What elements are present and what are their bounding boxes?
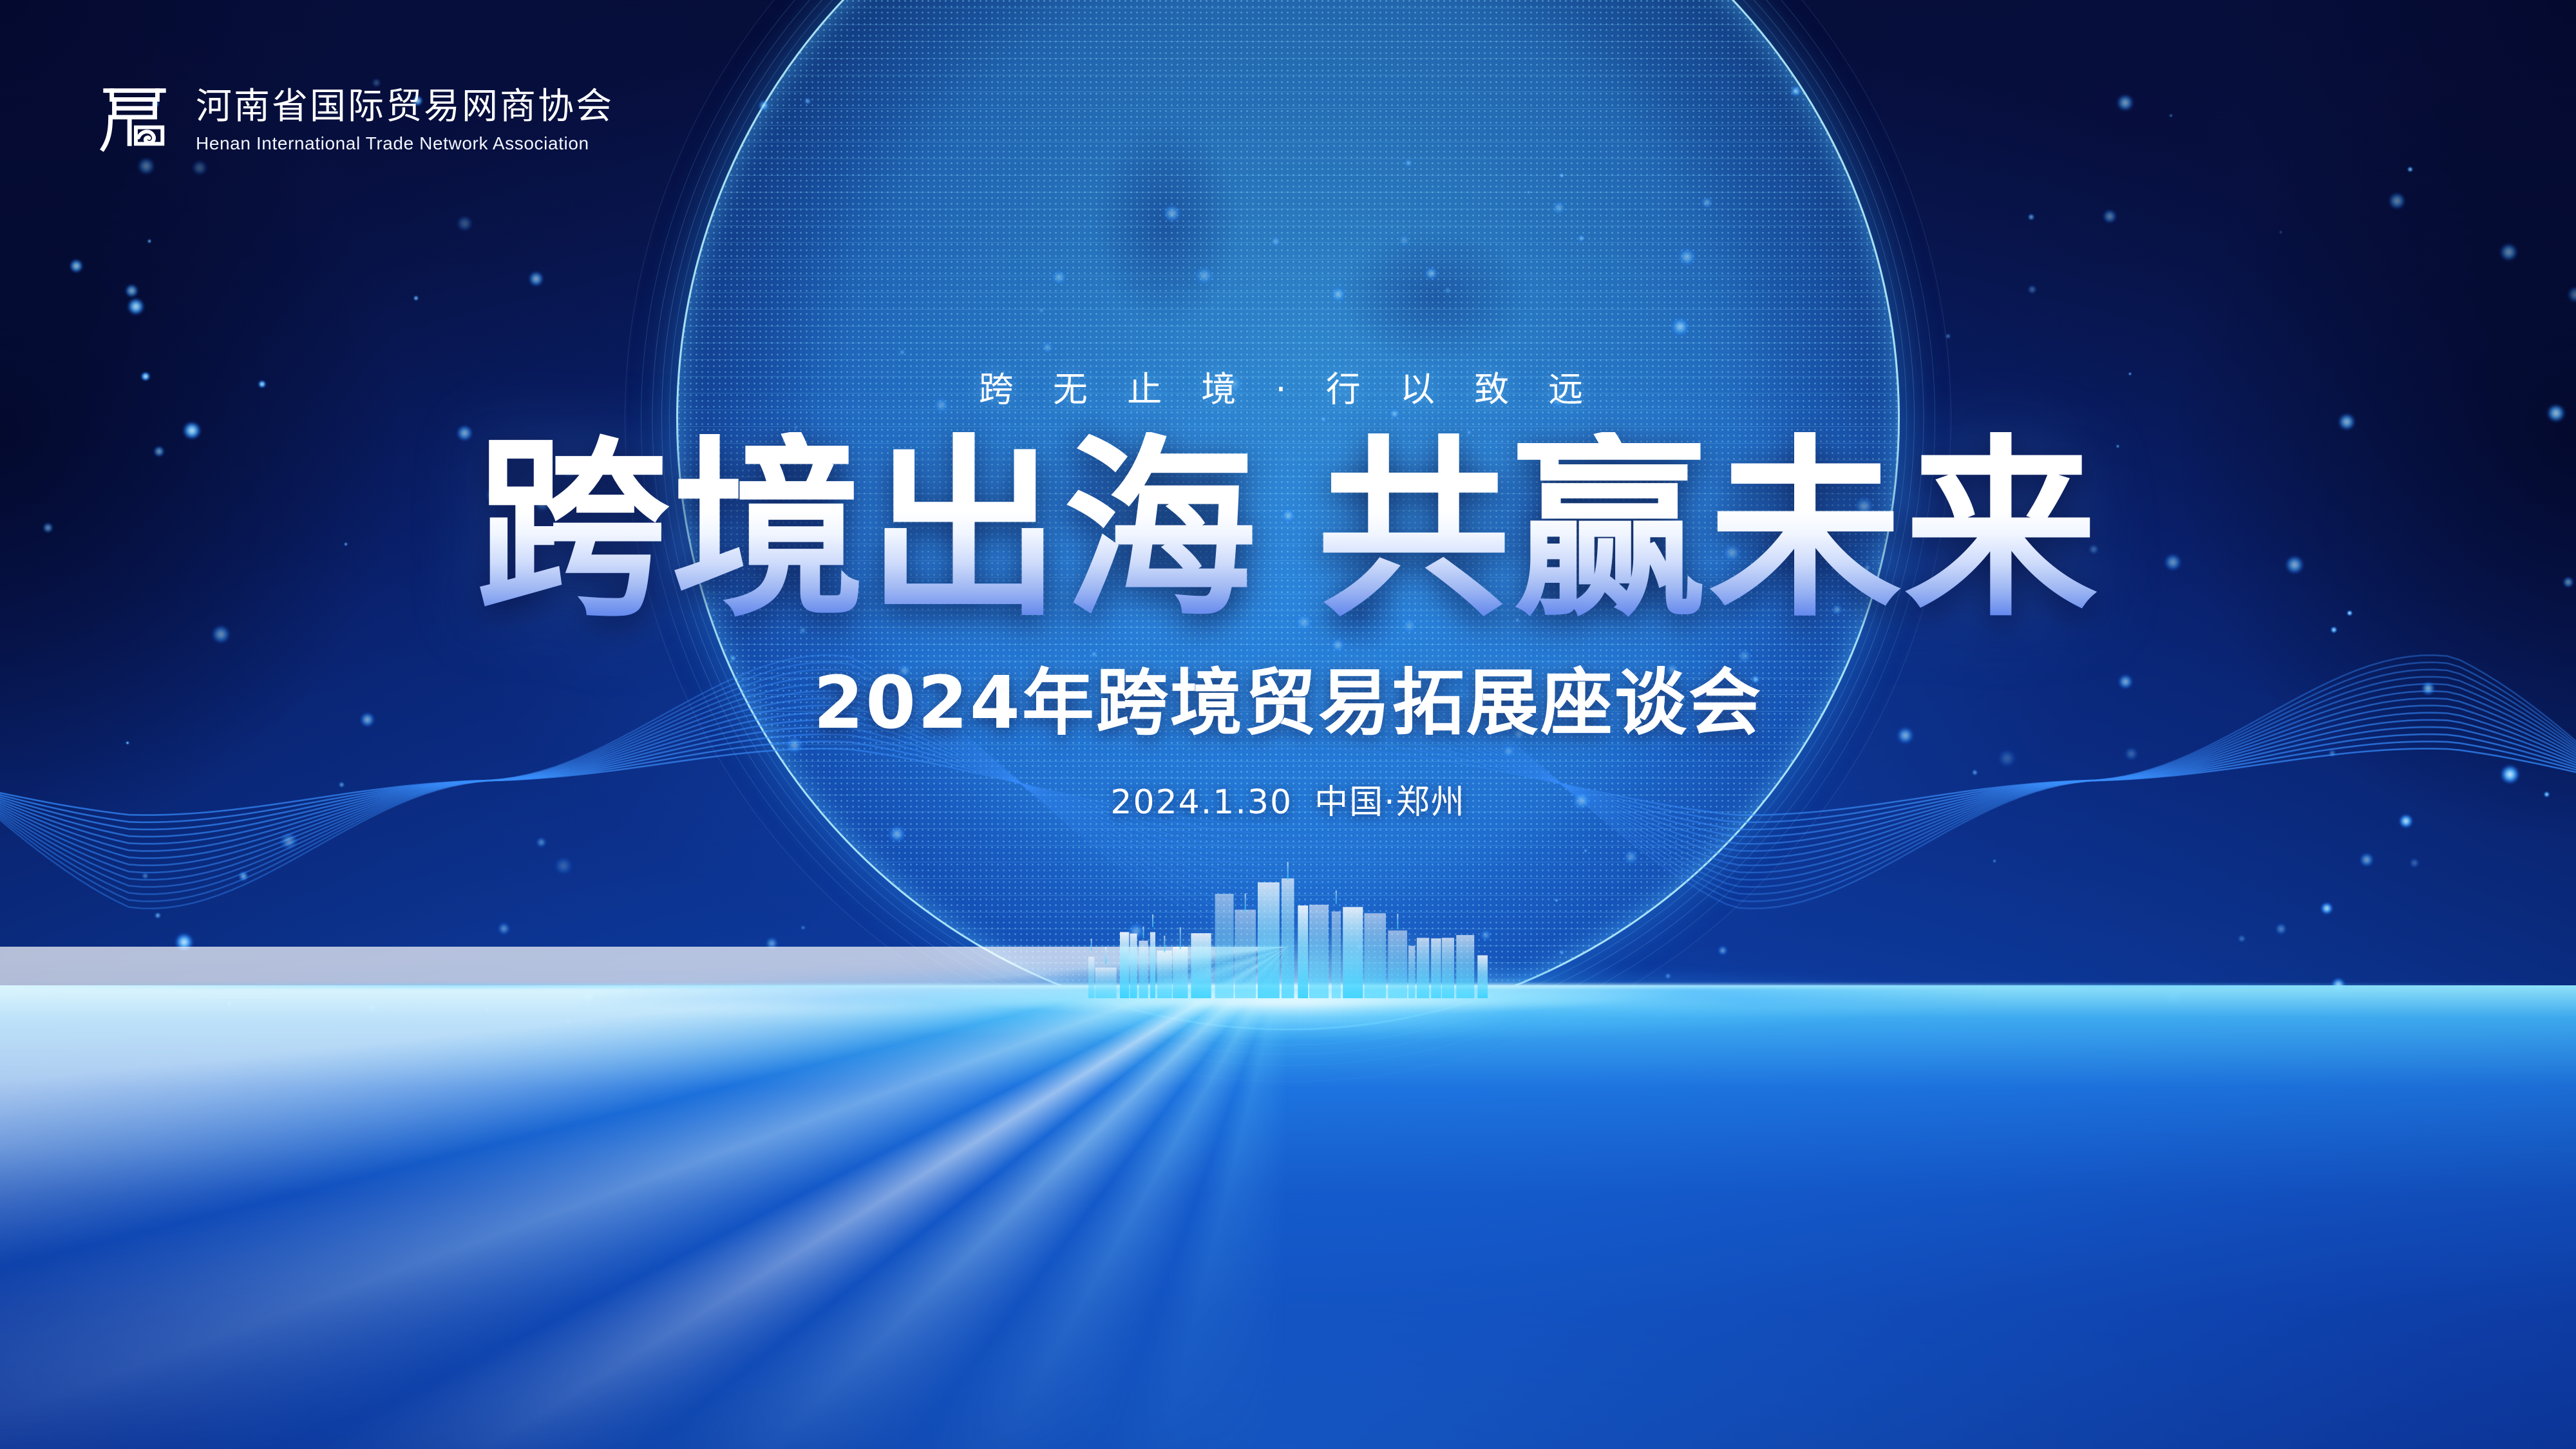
city-building <box>1442 938 1454 998</box>
city-antenna <box>1091 939 1092 951</box>
city-antenna <box>1180 927 1181 949</box>
hero-headline: 跨境出海共赢未来 <box>0 432 2576 629</box>
city-building <box>1215 894 1234 998</box>
city-antenna <box>1287 862 1289 880</box>
city-building <box>1258 882 1280 998</box>
city-building <box>1332 911 1341 998</box>
event-date: 2024.1.30 <box>1110 783 1293 822</box>
city-building <box>1343 907 1363 998</box>
event-poster: 河南省国际贸易网商协会 Henan International Trade Ne… <box>0 0 2576 1449</box>
city-building <box>1139 941 1148 998</box>
city-building <box>1364 913 1386 998</box>
particle-dot <box>281 833 297 849</box>
particle-dot <box>142 873 148 879</box>
city-building <box>1157 951 1172 998</box>
city-building <box>1388 931 1407 998</box>
city-building <box>1235 910 1256 999</box>
city-building <box>1282 878 1294 998</box>
city-building <box>1309 905 1329 998</box>
city-building <box>1095 967 1117 998</box>
event-location: 中国·郑州 <box>1314 783 1466 822</box>
glowing-city-skyline <box>1088 850 1488 998</box>
city-building <box>1173 947 1188 998</box>
city-building <box>1298 905 1308 998</box>
city-building <box>1120 932 1129 998</box>
hero-headline-part1: 跨境出海 <box>476 418 1259 643</box>
city-building <box>1150 932 1155 998</box>
particle-dot <box>1993 859 1996 863</box>
city-building <box>1191 933 1211 998</box>
city-building <box>1417 938 1429 998</box>
city-antenna <box>1164 936 1165 952</box>
city-building <box>1088 957 1094 998</box>
city-antenna <box>1336 891 1337 904</box>
hero-subtitle: 2024年跨境贸易拓展座谈会 <box>0 645 2576 749</box>
city-building <box>1477 955 1488 998</box>
particle-dot <box>2410 858 2419 867</box>
particle-dot <box>1624 850 1638 864</box>
particle-dot <box>536 838 546 848</box>
hero-headline-part2: 共赢未来 <box>1317 418 2100 643</box>
city-building <box>1431 938 1441 998</box>
city-antenna <box>1152 914 1153 927</box>
hero-tagline: 跨 无 止 境 · 行 以 致 远 <box>0 361 2576 412</box>
hero-meta: 2024.1.30中国·郑州 <box>0 775 2576 823</box>
city-antenna <box>1143 927 1144 938</box>
city-antenna <box>1397 914 1398 929</box>
particle-dot <box>1584 849 1587 853</box>
particle-dot <box>2360 853 2373 866</box>
city-building <box>1456 935 1474 998</box>
city-building <box>1408 946 1415 998</box>
city-antenna <box>1245 893 1246 913</box>
particle-dot <box>239 871 249 881</box>
hero-content: 跨 无 止 境 · 行 以 致 远 跨境出海共赢未来 2024年跨境贸易拓展座谈… <box>0 0 2576 823</box>
particle-dot <box>889 826 905 842</box>
city-building <box>1130 934 1137 999</box>
particle-dot <box>555 858 572 875</box>
city-antenna <box>1105 947 1106 963</box>
